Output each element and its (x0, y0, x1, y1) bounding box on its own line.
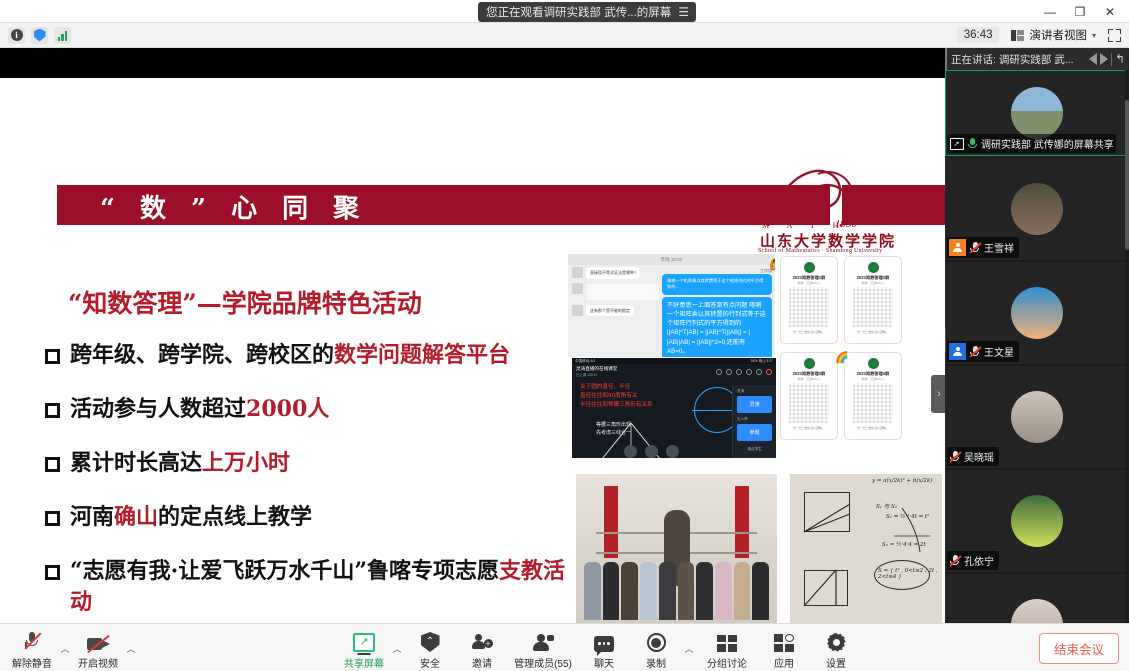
bullet-plain: 跨年级、跨学院、跨校区的 (70, 342, 334, 368)
panel-card: 灵涛 灵涛 (737, 389, 772, 413)
apps-button[interactable]: 应用 (758, 626, 810, 670)
participant-name: 王文星 (984, 344, 1014, 359)
qr-card: 2021知数答理2群 群聊 · 已满500人 扫一扫二维码,加入群聊。 (844, 256, 902, 344)
window-title-bar: 您正在观看调研实践部 武传...的屏幕 ☰ — ❐ ✕ (0, 0, 1129, 23)
avatar (1011, 599, 1063, 623)
bullet-list: 跨年级、跨学院、跨校区的数学问题解答平台 活动参与人数超过2000人 累计时长高… (45, 340, 575, 623)
tool-icon (716, 369, 722, 375)
bullet-plain: “志愿有我·让爱飞跃万水千山”鲁喀专项志愿 (70, 558, 499, 584)
qr-code-grid: 2021知数答理1群 群聊 · 已满500人 扫一扫二维码,加入群聊。 2021… (780, 256, 902, 448)
qr-card: 2021知数答理4群 群聊 · 已满500人 扫一扫二维码,加入群聊。 (844, 352, 902, 440)
slide-image-collage: 昨晚 20:03 直接用不等式证法是哪种? 这有那个是不能的假定 工作 (568, 254, 943, 623)
participant-name: 调研实践部 武传娜的屏幕共享 (981, 136, 1114, 151)
bullet-text: 活动参与人数超过2000人 (70, 394, 329, 426)
participant-tile[interactable]: ↗ 调研实践部 武传娜的屏幕共享 (945, 70, 1129, 156)
qr-code-image (853, 287, 893, 327)
participant-name-badge: 吴晓瑶 (947, 447, 999, 466)
qr-subtitle: 群聊 · 已满500人 (784, 377, 834, 381)
screen-share-icon: ↗ (950, 138, 964, 150)
class-toolbar (716, 369, 772, 375)
bullet-highlight: 数学问题解答平台 (334, 342, 510, 368)
meeting-info-button[interactable]: i (8, 27, 25, 44)
meeting-timer: 36:43 (957, 27, 1000, 43)
info-icon: i (11, 29, 23, 41)
mic-muted-icon (969, 241, 981, 254)
meeting-toolbar: 解除静音 ︿ 开启视频 ︿ ↗ 共享屏幕 ︿ ⌃ 安全 (0, 623, 1129, 671)
mute-button-label: 解除静音 (12, 655, 52, 670)
window-controls: — ❐ ✕ (1035, 0, 1125, 23)
avatar (1011, 183, 1063, 235)
host-badge-icon (949, 239, 966, 256)
qr-footer: 扫一扫二维码,加入群聊。 (848, 330, 898, 334)
audio-options-chevron-icon[interactable]: ︿ (58, 642, 72, 670)
chat-icon (594, 630, 614, 652)
board-equation: S₂ = ½·4·4 = 2t (882, 542, 926, 548)
speaker-view-icon (1011, 30, 1024, 41)
notice-menu-icon[interactable]: ☰ (678, 5, 688, 19)
qr-code-image (853, 383, 893, 423)
bullet-plain: 活动参与人数超过 (70, 396, 246, 422)
share-screen-icon: ↗ (353, 630, 375, 652)
video-button-label: 开启视频 (78, 655, 118, 670)
avatar (1011, 391, 1063, 443)
breakout-label: 分组讨论 (707, 655, 747, 670)
mute-button[interactable]: 解除静音 (6, 626, 58, 670)
participant-name: 孔依宁 (964, 553, 994, 568)
panel-card: 请点学生 (737, 447, 772, 452)
group-avatar (868, 262, 879, 273)
bullet-highlight: 确山 (114, 504, 158, 530)
mic-muted-icon (969, 345, 981, 358)
avatar (1011, 87, 1063, 139)
toolbar-center-group: ↗ 共享屏幕 ︿ ⌃ 安全 + 邀请 管理成员(55) (338, 626, 862, 670)
whiteboard-red-text: 关于圆的直径、半径 直径往往和90度角有关 半径往往和等腰三角形有关系 (580, 383, 653, 410)
list-item: 跨年级、跨学院、跨校区的数学问题解答平台 (45, 340, 575, 372)
rail-drag-handle[interactable] (945, 328, 946, 352)
panel-label: 请点学生 (737, 447, 772, 452)
bullet-text: 河南确山的定点线上教学 (70, 502, 312, 534)
bullet-highlight: 上万小时 (202, 450, 290, 476)
logo-math-text: M A T H (762, 221, 846, 230)
board-note: S₁ 与 S₂ (876, 502, 897, 510)
divider (1111, 53, 1112, 66)
class-whiteboard: 关于圆的直径、半径 直径往往和90度角有关 半径往往和等腰三角形有关系 等腰三角… (572, 379, 776, 458)
tool-icon (726, 369, 732, 375)
video-button[interactable]: 开启视频 (72, 626, 124, 670)
list-item: “志愿有我·让爱飞跃万水千山”鲁喀专项志愿支教活动 (45, 556, 575, 620)
meeting-info-left: i (0, 27, 71, 44)
panel-button: 参题 (737, 424, 772, 441)
university-logo: M A T H 1930 山东大学数学学院 School of Mathemat… (750, 166, 900, 254)
avatar (572, 267, 583, 278)
qr-footer: 扫一扫二维码,加入群聊。 (848, 426, 898, 430)
class-header: 灵涛直播的在线课堂 已上课 130:47 (572, 364, 776, 379)
bullet-text: 跨年级、跨学院、跨校区的数学问题解答平台 (70, 340, 510, 372)
participant-name-badge: 孔依宁 (947, 551, 999, 570)
whiteboard-photo: y = a(x/2k)² + b(x/2k) S₁ 与 S₂ S₁ = ½·t·… (790, 474, 942, 623)
avatar (1011, 287, 1063, 339)
tool-icon (756, 369, 762, 375)
view-selector-label: 演讲者视图 (1029, 27, 1087, 43)
bullet-text: 累计时长高达上万小时 (70, 448, 290, 480)
meeting-info-bar: i 36:43 演讲者视图 ▾ (0, 23, 1129, 48)
video-options-chevron-icon[interactable]: ︿ (124, 642, 138, 670)
gear-icon (827, 630, 846, 652)
participant-name-badge: 王雪祥 (947, 237, 1019, 258)
list-item: 累计时长高达上万小时 (45, 448, 575, 480)
screen-share-notice: 您正在观看调研实践部 武传...的屏幕 ☰ (478, 2, 696, 22)
minimize-button[interactable]: — (1035, 0, 1065, 23)
bullet-square-icon (45, 457, 60, 472)
qr-row: 2021知数答理3群 群聊 · 已满500人 扫一扫二维码,加入群聊。 2021… (780, 352, 902, 440)
toolbar-left-group: 解除静音 ︿ 开启视频 ︿ (6, 626, 138, 670)
presentation-slide: “ 数 ” 心 同 聚 M A T H 1930 山东大学数学学院 School… (0, 78, 945, 623)
heart-sticker-icon: 🌈 (835, 351, 849, 364)
active-speaker-label: 正在讲话: 调研实践部 武... (951, 52, 1085, 67)
invite-icon: + (472, 630, 493, 652)
participant-tile[interactable]: 孔依宁 (945, 470, 1129, 572)
logo-swirl-icon (760, 166, 880, 228)
sticker-icon: 🙆 (769, 258, 775, 271)
fullscreen-button[interactable] (1108, 29, 1121, 42)
people-row (584, 562, 769, 620)
tool-icon (746, 369, 752, 375)
cohost-badge-icon (949, 343, 966, 360)
apps-label: 应用 (774, 655, 794, 670)
mic-muted-icon (949, 450, 961, 463)
bullet-square-icon (45, 349, 60, 364)
qr-subtitle: 群聊 · 已满500人 (784, 281, 834, 285)
mic-muted-icon (24, 630, 41, 652)
qr-footer: 扫一扫二维码,加入群聊。 (784, 330, 834, 334)
online-class-screenshot: 中国移动 4G 54% 晚上3:37 灵涛直播的在线课堂 已上课 130:47 (572, 358, 776, 458)
list-item: 河南确山的定点线上教学 (45, 502, 575, 534)
qr-row: 2021知数答理1群 群聊 · 已满500人 扫一扫二维码,加入群聊。 2021… (780, 256, 902, 344)
group-avatar (804, 358, 815, 369)
share-screen-label: 共享屏幕 (344, 655, 384, 670)
participant-name-badge: ↗ 调研实践部 武传娜的屏幕共享 (948, 134, 1116, 153)
shield-icon (34, 29, 46, 42)
chat-bubble-outgoing-small: 喀喇一个矩阵乘以其转置等于这个矩阵列式的平方得到的... (662, 274, 772, 295)
security-label: 安全 (420, 655, 440, 670)
qr-code-image (789, 383, 829, 423)
group-photo (576, 474, 777, 623)
qr-card: 2021知数答理1群 群聊 · 已满500人 扫一扫二维码,加入群聊。 (780, 256, 838, 344)
bullet-text: “志愿有我·让爱飞跃万水千山”鲁喀专项志愿支教活动 (70, 556, 575, 620)
chat-label: 聊天 (594, 655, 614, 670)
qr-footer: 扫一扫二维码,加入群聊。 (784, 426, 834, 430)
invite-button[interactable]: + 邀请 (456, 626, 508, 670)
chat-outgoing-column: 工作组 喀喇一个矩阵乘以其转置等于这个矩阵列式的平方得到的... 不好意思一上面… (662, 268, 772, 357)
panel-label: 灵涛 (737, 389, 772, 394)
settings-label: 设置 (826, 655, 846, 670)
close-button[interactable]: ✕ (1095, 0, 1125, 23)
share-options-chevron-icon[interactable]: ︿ (390, 642, 404, 670)
chevron-down-icon: ▾ (1092, 31, 1096, 40)
bullet-plain2: 的定点线上教学 (158, 504, 312, 530)
share-screen-button[interactable]: ↗ 共享屏幕 (338, 626, 390, 670)
list-item: 活动参与人数超过2000人 (45, 394, 575, 426)
logo-year-text: 1930 (835, 218, 857, 230)
record-button[interactable]: 录制 (630, 626, 682, 670)
class-subtitle: 已上课 130:47 (576, 372, 617, 377)
zoom-meeting-window: 您正在观看调研实践部 武传...的屏幕 ☰ — ❐ ✕ i 36:43 (0, 0, 1129, 671)
participants-label: 管理成员(55) (514, 655, 572, 670)
participant-tile[interactable]: 王文星 (945, 262, 1129, 364)
qr-code-image (789, 287, 829, 327)
participants-button[interactable]: 管理成员(55) (508, 626, 578, 670)
bullet-square-icon (45, 403, 60, 418)
active-speaker-header: 正在讲话: 调研实践部 武... ↰ (945, 48, 1129, 70)
meeting-info-right: 36:43 演讲者视图 ▾ (957, 25, 1129, 45)
participant-name-badge: 王文星 (947, 341, 1019, 362)
chat-bubble-image (586, 283, 660, 301)
bullet-highlight: 2000人 (246, 396, 329, 422)
qr-card: 2021知数答理3群 群聊 · 已满500人 扫一扫二维码,加入群聊。 (780, 352, 838, 440)
bullet-square-icon (45, 565, 60, 580)
mic-on-icon (967, 137, 978, 150)
participant-rail: 正在讲话: 调研实践部 武... ↰ ↗ 调研实践部 武传娜的屏幕共享 (945, 48, 1129, 623)
breakout-icon (717, 630, 737, 652)
chat-bubble-outgoing-large: 不好意思一上面答案有点问题 喀喇一个矩阵乘以其转置的行列式等于这个矩阵行列式的平… (662, 297, 772, 357)
back-arrow-icon[interactable]: ↰ (1115, 52, 1125, 66)
chat-bubble-text: 这有那个是不能的假定 (586, 305, 634, 317)
shared-screen-stage[interactable]: “ 数 ” 心 同 聚 M A T H 1930 山东大学数学学院 School… (0, 48, 945, 623)
security-button[interactable]: ⌃ 安全 (404, 626, 456, 670)
record-label: 录制 (646, 655, 666, 670)
whiteboard-black-text: 等腰三角形出现 先考虑三线合一 (596, 421, 631, 437)
avatar (572, 283, 583, 294)
avatar (1011, 495, 1063, 547)
board-lines (790, 474, 942, 623)
qr-subtitle: 群聊 · 已满500人 (848, 377, 898, 381)
panel-button: 灵涛 (737, 396, 772, 413)
participant-name: 王雪祥 (984, 240, 1014, 255)
slide-title: “ 数 ” 心 同 聚 (100, 188, 600, 224)
board-equation: y = a(x/2k)² + b(x/2k) (872, 478, 932, 484)
bullet-plain: 河南 (70, 504, 114, 530)
maximize-button[interactable]: ❐ (1065, 0, 1095, 23)
record-icon (647, 630, 666, 652)
chat-button[interactable]: 聊天 (578, 626, 630, 670)
group-avatar (868, 358, 879, 369)
prev-page-icon[interactable] (1089, 53, 1097, 65)
next-page-icon[interactable] (1100, 53, 1108, 65)
signal-bars-icon (58, 30, 68, 41)
panel-label: 无人举 (737, 417, 772, 422)
apps-icon (774, 630, 794, 652)
breakout-rooms-button[interactable]: 分组讨论 (696, 626, 758, 670)
rail-nav: ↰ (1089, 52, 1125, 66)
class-round-buttons (624, 445, 679, 458)
status-right: 54% 晚上3:37 (751, 358, 773, 364)
view-selector[interactable]: 演讲者视图 ▾ (1007, 25, 1100, 45)
chat-time-label: 昨晚 20:03 (568, 254, 775, 265)
slide-subtitle: “知数答理”—学院品牌特色活动 (68, 284, 422, 320)
participant-tile[interactable]: ⌄ (945, 574, 1129, 623)
tool-icon (736, 369, 742, 375)
participants-icon (533, 630, 554, 652)
class-side-panel: 灵涛 灵涛 无人举 参题 请点学生 (732, 385, 776, 458)
bullet-plain: 累计时长高达 (70, 450, 202, 476)
camera-off-icon (87, 630, 110, 652)
status-left: 中国移动 4G (575, 358, 595, 364)
chat-screenshot: 昨晚 20:03 直接用不等式证法是哪种? 这有那个是不能的假定 工作 (568, 254, 775, 357)
board-equation: S = { t² , 0<t≤2 ; 2t , 2<t≤4 } (878, 568, 942, 580)
record-options-chevron-icon[interactable]: ︿ (682, 642, 696, 670)
shield-icon: ⌃ (421, 630, 440, 652)
qr-subtitle: 群聊 · 已满500人 (848, 281, 898, 285)
board-equation: S₁ = ½·t·4t = t² (886, 514, 929, 520)
encryption-button[interactable] (31, 27, 48, 44)
rail-scrollbar[interactable] (1125, 70, 1129, 623)
participant-tile[interactable]: 吴晓瑶 (945, 366, 1129, 468)
invite-label: 邀请 (472, 655, 492, 670)
participant-tiles[interactable]: ↗ 调研实践部 武传娜的屏幕共享 王雪祥 王文星 (945, 70, 1129, 623)
settings-button[interactable]: 设置 (810, 626, 862, 670)
close-icon (766, 369, 772, 375)
panel-card: 无人举 参题 (737, 417, 772, 441)
avatar (572, 305, 583, 316)
network-quality-button[interactable] (54, 27, 71, 44)
screen-share-notice-text: 您正在观看调研实践部 武传...的屏幕 (486, 4, 671, 20)
group-avatar (804, 262, 815, 273)
participant-name: 吴晓瑶 (964, 449, 994, 464)
bullet-square-icon (45, 511, 60, 526)
mic-muted-icon (949, 554, 961, 567)
participant-tile[interactable]: 王雪祥 (945, 158, 1129, 260)
end-meeting-button[interactable]: 结束会议 (1039, 633, 1119, 664)
chat-bubble-text: 直接用不等式证法是哪种? (586, 267, 640, 279)
